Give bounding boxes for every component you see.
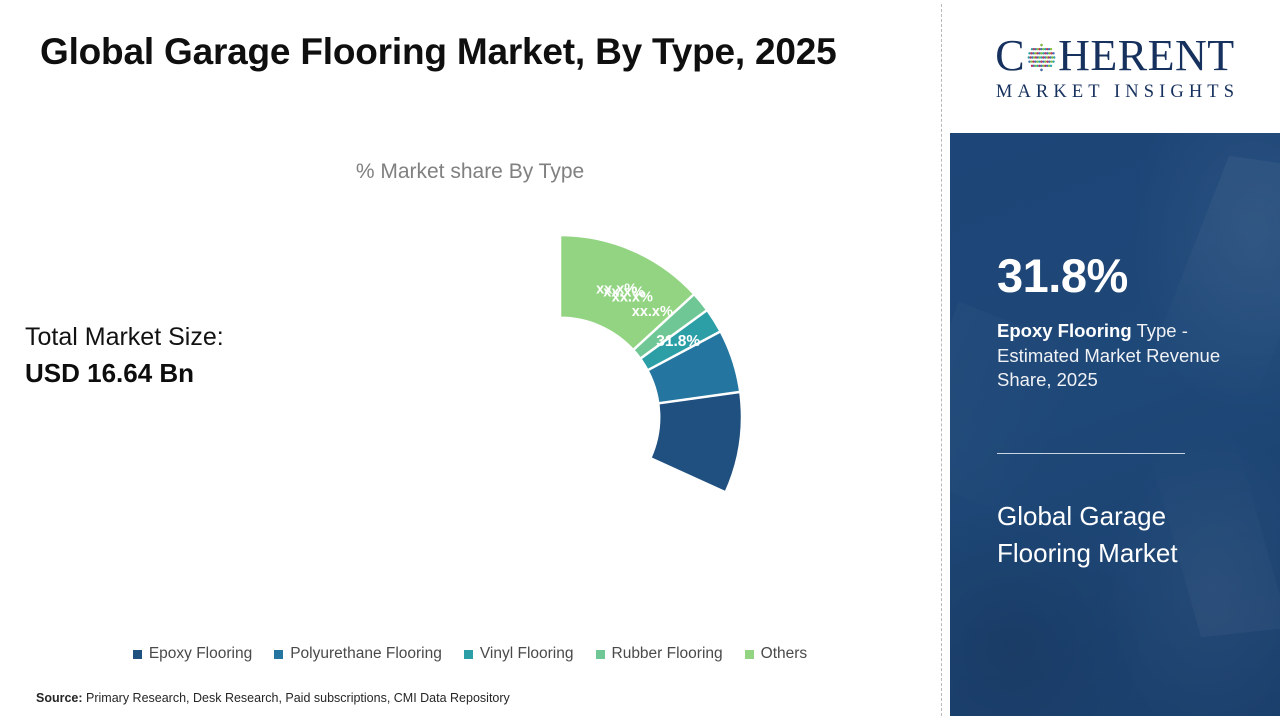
legend-item-label: Vinyl Flooring	[480, 645, 574, 663]
total-market-size-label: Total Market Size:	[25, 322, 325, 353]
donut-slice-label: xx.x%	[596, 281, 637, 297]
highlight-panel: 31.8% Epoxy Flooring Type - Estimated Ma…	[950, 133, 1280, 716]
legend-swatch-icon	[464, 650, 473, 659]
logo-letter-c: C	[995, 34, 1025, 78]
highlight-stat-percent: 31.8%	[997, 252, 1128, 299]
highlight-stat-description: Epoxy Flooring Type - Estimated Market R…	[997, 319, 1237, 393]
legend-item[interactable]: Rubber Flooring	[596, 645, 723, 663]
panel-bottom-strip	[950, 716, 1280, 720]
donut-slice-label: xx.x%	[632, 304, 673, 320]
chart-subtitle: % Market share By Type	[0, 160, 940, 184]
globe-dots-icon	[1026, 42, 1057, 73]
total-market-size-block: Total Market Size: USD 16.64 Bn	[25, 322, 325, 391]
legend-swatch-icon	[596, 650, 605, 659]
legend-item[interactable]: Epoxy Flooring	[133, 645, 252, 663]
legend-swatch-icon	[274, 650, 283, 659]
legend-item-label: Polyurethane Flooring	[290, 645, 442, 663]
legend-item-label: Epoxy Flooring	[149, 645, 252, 663]
source-note: Source: Primary Research, Desk Research,…	[36, 691, 510, 705]
highlight-stat-segment-name: Epoxy Flooring	[997, 320, 1132, 341]
legend-item[interactable]: Polyurethane Flooring	[274, 645, 442, 663]
logo-word-herent: HERENT	[1058, 34, 1235, 78]
logo-tagline: MARKET INSIGHTS	[991, 82, 1239, 103]
page-title: Global Garage Flooring Market, By Type, …	[40, 30, 900, 74]
legend-item[interactable]: Others	[745, 645, 808, 663]
source-text: Primary Research, Desk Research, Paid su…	[83, 691, 510, 705]
chart-panel: Global Garage Flooring Market, By Type, …	[0, 0, 940, 720]
brand-panel: C HERENT MARKET INSIGHTS 31.8% Epoxy Flo…	[950, 0, 1280, 720]
total-market-size-value: USD 16.64 Bn	[25, 357, 325, 391]
legend-item[interactable]: Vinyl Flooring	[464, 645, 574, 663]
donut-chart-svg: 31.8%xx.x%xx.x%xx.x%xx.x%	[378, 235, 742, 599]
logo-wordmark: C HERENT	[995, 34, 1234, 78]
highlight-panel-rule	[997, 453, 1185, 454]
donut-slice-label: 31.8%	[656, 333, 700, 350]
donut-chart: 31.8%xx.x%xx.x%xx.x%xx.x%	[378, 235, 742, 599]
donut-slice-group	[560, 235, 742, 492]
chart-legend: Epoxy FlooringPolyurethane FlooringVinyl…	[0, 645, 940, 663]
legend-swatch-icon	[745, 650, 754, 659]
infographic-slide: Global Garage Flooring Market, By Type, …	[0, 0, 1280, 720]
source-label: Source:	[36, 691, 83, 705]
legend-item-label: Others	[761, 645, 808, 663]
company-logo: C HERENT MARKET INSIGHTS	[950, 4, 1280, 133]
panel-divider-dashed	[941, 4, 942, 716]
legend-item-label: Rubber Flooring	[612, 645, 723, 663]
market-name: Global Garage Flooring Market	[997, 498, 1247, 573]
legend-swatch-icon	[133, 650, 142, 659]
